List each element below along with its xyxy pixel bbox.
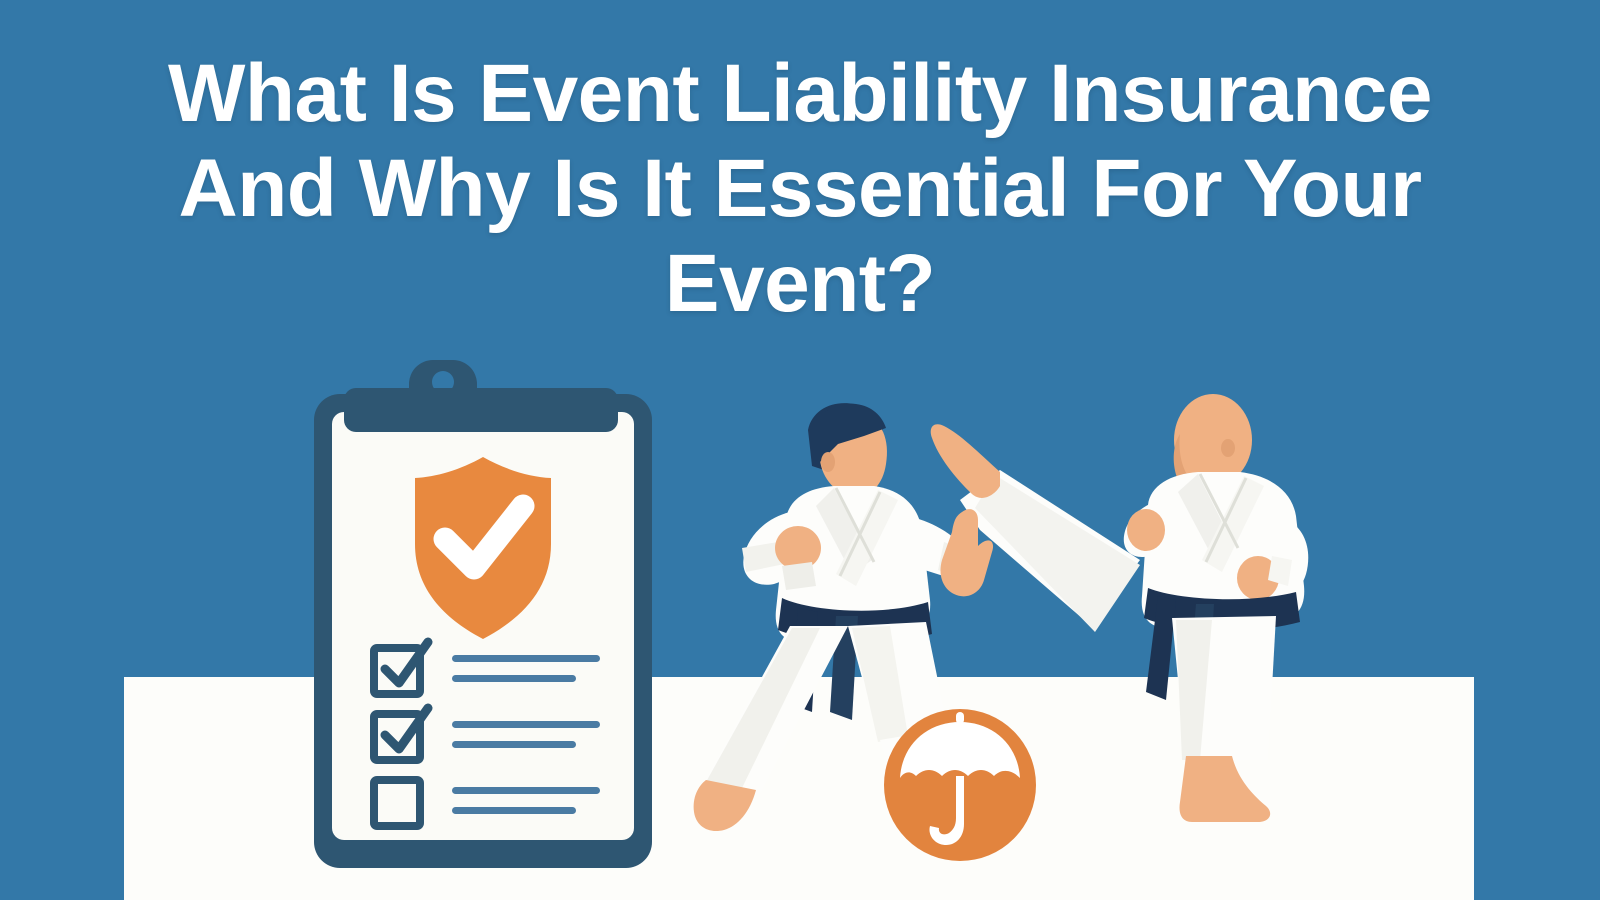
floor-white-panel [124,677,1474,900]
banner-root: What Is Event Liability Insurance And Wh… [0,0,1600,900]
page-title: What Is Event Liability Insurance And Wh… [0,46,1600,331]
